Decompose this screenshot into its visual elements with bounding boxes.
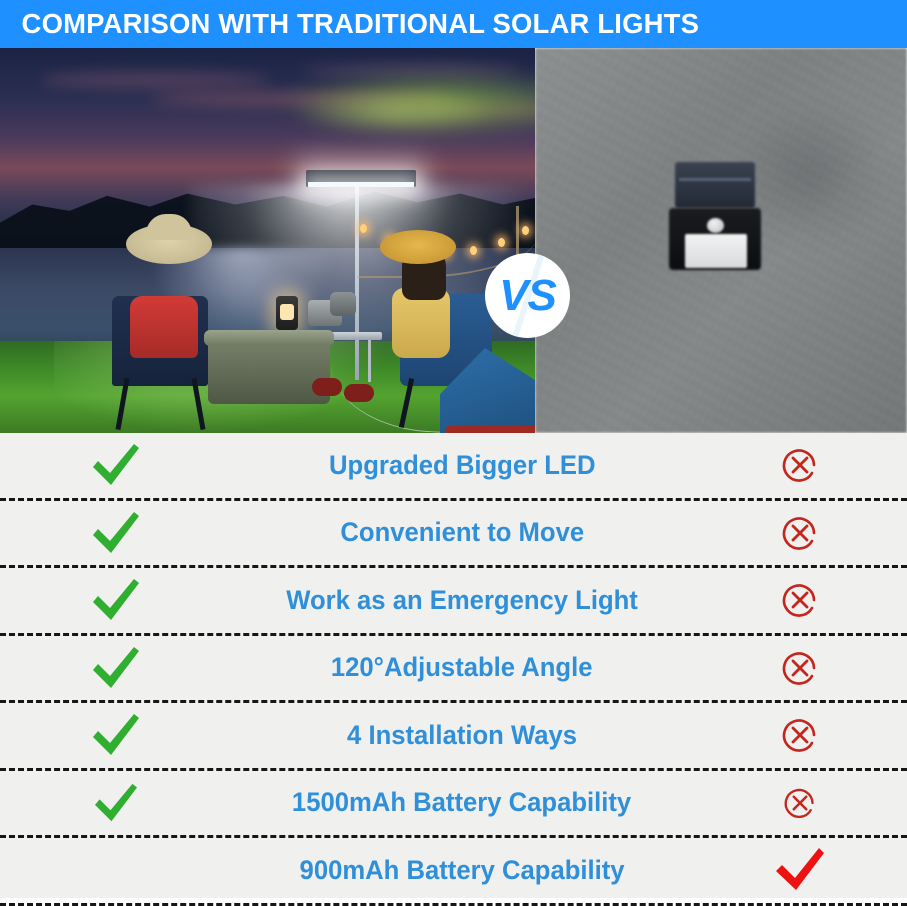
- green-check-icon: [89, 577, 143, 623]
- feature-label: Convenient to Move: [340, 517, 584, 548]
- row-right-cell: [692, 847, 907, 893]
- kettle: [330, 292, 356, 316]
- green-check-icon: [89, 712, 143, 758]
- row-left-cell: [0, 645, 232, 691]
- red-cross-circle-icon: [781, 446, 819, 484]
- solar-panel-line: [679, 178, 751, 181]
- row-right-cell: [692, 786, 907, 820]
- row-right-cell: [692, 649, 907, 687]
- shoes: [344, 384, 374, 402]
- row-label-cell: Convenient to Move: [232, 517, 692, 548]
- feature-label: 1500mAh Battery Capability: [292, 787, 631, 818]
- row-right-cell: [692, 581, 907, 619]
- green-check-icon: [89, 645, 143, 691]
- feature-label: 120°Adjustable Angle: [331, 652, 593, 683]
- table-row: Upgraded Bigger LED: [0, 433, 907, 501]
- row-label-cell: 120°Adjustable Angle: [232, 652, 692, 683]
- red-cross-circle-icon: [783, 786, 817, 820]
- string-light-bulb: [498, 238, 505, 247]
- red-cross-circle-icon: [781, 514, 819, 552]
- feature-label: Upgraded Bigger LED: [329, 450, 596, 481]
- tent-base: [446, 426, 535, 433]
- light-lens: [685, 234, 747, 268]
- table-row: 4 Installation Ways: [0, 703, 907, 771]
- table-row: Convenient to Move: [0, 501, 907, 569]
- red-check-icon: [773, 847, 827, 893]
- header-banner: COMPARISON WITH TRADITIONAL SOLAR LIGHTS: [0, 0, 907, 48]
- sun-hat-crown: [146, 214, 192, 240]
- led-light-face: [308, 182, 414, 187]
- cloud: [40, 72, 270, 88]
- row-label-cell: 900mAh Battery Capability: [232, 855, 692, 886]
- string-light-bulb: [470, 246, 477, 255]
- table-row: 1500mAh Battery Capability: [0, 771, 907, 839]
- camping-scene-photo: [0, 48, 535, 433]
- cooler-lid: [204, 330, 334, 346]
- row-label-cell: 4 Installation Ways: [232, 720, 692, 751]
- row-label-cell: 1500mAh Battery Capability: [232, 787, 692, 818]
- red-cross-circle-icon: [781, 716, 819, 754]
- row-left-cell: [0, 712, 232, 758]
- vs-badge: VS: [485, 253, 570, 338]
- person-left: [130, 296, 198, 358]
- green-check-icon: [91, 782, 141, 824]
- motion-sensor-icon: [707, 218, 724, 233]
- row-left-cell: [0, 510, 232, 556]
- table-row: 900mAh Battery Capability: [0, 838, 907, 906]
- feature-label: 4 Installation Ways: [347, 720, 577, 751]
- cooler-box: [208, 336, 330, 404]
- row-right-cell: [692, 716, 907, 754]
- string-light-bulb: [522, 226, 529, 235]
- row-label-cell: Work as an Emergency Light: [232, 585, 692, 616]
- table-row: 120°Adjustable Angle: [0, 636, 907, 704]
- traditional-solar-light-photo: [535, 48, 907, 433]
- solar-panel: [675, 162, 755, 208]
- lantern-glass: [280, 304, 294, 320]
- row-left-cell: [0, 442, 232, 488]
- row-left-cell: [0, 782, 232, 824]
- red-cross-circle-icon: [781, 581, 819, 619]
- string-light-bulb: [360, 224, 367, 233]
- green-check-icon: [89, 442, 143, 488]
- comparison-table: Upgraded Bigger LED Convenient to Move: [0, 433, 907, 898]
- row-label-cell: Upgraded Bigger LED: [232, 450, 692, 481]
- row-left-cell: [0, 577, 232, 623]
- green-check-icon: [89, 510, 143, 556]
- row-right-cell: [692, 514, 907, 552]
- feature-label: Work as an Emergency Light: [286, 585, 638, 616]
- vs-label: VS: [499, 274, 556, 318]
- infographic-page: COMPARISON WITH TRADITIONAL SOLAR LIGHTS: [0, 0, 907, 898]
- sun-hat-right: [380, 230, 456, 264]
- feature-label: 900mAh Battery Capability: [299, 855, 624, 886]
- table-row: Work as an Emergency Light: [0, 568, 907, 636]
- sky-glow: [295, 92, 495, 132]
- table-leg: [368, 340, 371, 382]
- page-title: COMPARISON WITH TRADITIONAL SOLAR LIGHTS: [0, 8, 699, 40]
- row-right-cell: [692, 446, 907, 484]
- shoes: [312, 378, 342, 396]
- photo-comparison-strip: VS: [0, 48, 907, 433]
- red-cross-circle-icon: [781, 649, 819, 687]
